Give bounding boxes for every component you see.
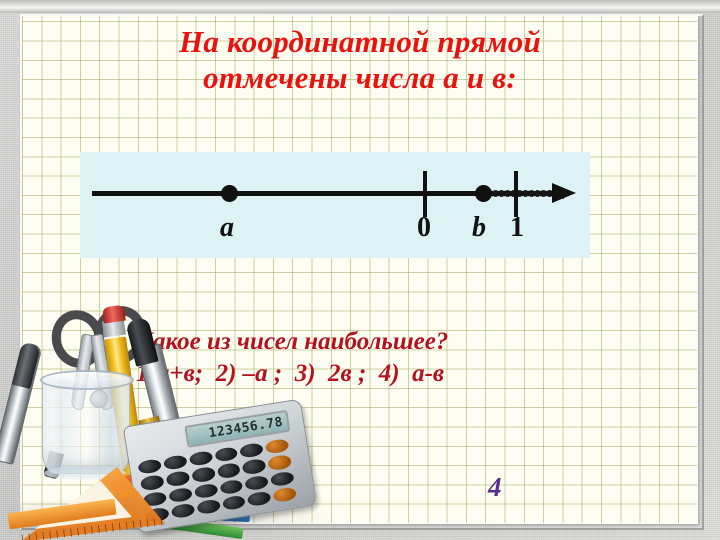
calculator-key bbox=[216, 462, 241, 479]
number-line-figure: a 0 b 1 bbox=[80, 152, 590, 258]
axis-label-one: 1 bbox=[510, 214, 524, 242]
pencil-cup-rim bbox=[40, 370, 134, 390]
calculator-key bbox=[222, 494, 247, 511]
calculator-key bbox=[170, 502, 195, 519]
tick-mark-one bbox=[514, 171, 518, 217]
calculator-key bbox=[247, 490, 272, 507]
calculator-key bbox=[267, 454, 292, 471]
axis-label-zero: 0 bbox=[417, 214, 431, 242]
calculator-key bbox=[273, 486, 298, 503]
calculator-key bbox=[163, 454, 188, 471]
calculator-key bbox=[165, 470, 190, 487]
title-line-1: На координатной прямой bbox=[179, 24, 541, 59]
calculator-key bbox=[193, 482, 218, 499]
axis-label-b: b bbox=[472, 214, 486, 242]
tick-mark-zero bbox=[423, 171, 427, 217]
title-line-2: отмечены числа а и в: bbox=[40, 60, 680, 96]
number-line-arrow-icon bbox=[552, 183, 576, 203]
calculator-key bbox=[191, 466, 216, 483]
calculator-key bbox=[196, 498, 221, 515]
page-title: На координатной прямой отмечены числа а … bbox=[40, 24, 680, 96]
calculator-key bbox=[270, 470, 295, 487]
page-number: 4 bbox=[488, 472, 502, 503]
triangle-ruler-icon bbox=[12, 459, 165, 540]
calculator-key bbox=[244, 474, 269, 491]
calculator-key bbox=[168, 486, 193, 503]
calculator-key bbox=[242, 458, 267, 475]
point-marker-b bbox=[475, 185, 492, 202]
axis-label-a: a bbox=[220, 214, 234, 242]
calculator-key bbox=[219, 478, 244, 495]
slide-canvas: На координатной прямой отмечены числа а … bbox=[0, 0, 720, 540]
calculator-key bbox=[265, 438, 290, 455]
calculator-key bbox=[188, 450, 213, 467]
frame-top-bevel bbox=[0, 0, 720, 13]
desk-supplies-clipart: 123456.78 bbox=[8, 300, 348, 540]
pencil-eraser bbox=[102, 305, 126, 324]
pencil-cup-icon bbox=[42, 377, 130, 474]
point-marker-a bbox=[221, 185, 238, 202]
calculator-key bbox=[239, 442, 264, 459]
calculator-key bbox=[214, 446, 239, 463]
